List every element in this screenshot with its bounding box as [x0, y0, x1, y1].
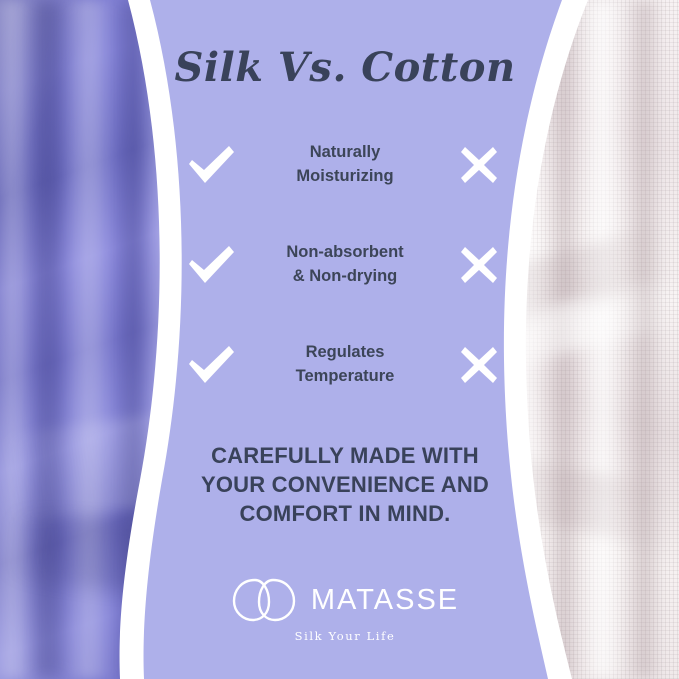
feature-line-2: Temperature: [296, 367, 395, 385]
tagline-line-3: COMFORT IN MIND.: [240, 501, 451, 526]
check-icon: [180, 343, 242, 387]
feature-text: Naturally Moisturizing: [242, 141, 448, 189]
center-panel: Silk Vs. Cotton Naturally Moisturizing: [0, 0, 679, 679]
brand-lockup: MATASSE Silk Your Life: [150, 577, 540, 643]
brand-slogan: Silk Your Life: [295, 629, 396, 643]
tagline-line-1: CAREFULLY MADE WITH: [211, 443, 479, 468]
product-infographic: Silk Vs. Cotton Naturally Moisturizing: [0, 0, 679, 679]
feature-text: Non-absorbent & Non-drying: [242, 241, 448, 289]
cross-icon-glyph: [459, 345, 499, 385]
feature-line-1: Regulates: [306, 343, 385, 361]
comparison-row: Non-absorbent & Non-drying: [180, 215, 510, 315]
tagline-line-2: YOUR CONVENIENCE AND: [201, 472, 489, 497]
feature-line-2: & Non-drying: [293, 267, 398, 285]
feature-line-1: Non-absorbent: [286, 243, 403, 261]
feature-line-2: Moisturizing: [296, 167, 393, 185]
cross-icon: [448, 345, 510, 385]
check-icon-glyph: [185, 343, 237, 387]
feature-text: Regulates Temperature: [242, 341, 448, 389]
cross-icon: [448, 145, 510, 185]
check-icon-glyph: [185, 143, 237, 187]
cross-icon: [448, 245, 510, 285]
cross-icon-glyph: [459, 145, 499, 185]
check-icon-glyph: [185, 243, 237, 287]
tagline: CAREFULLY MADE WITH YOUR CONVENIENCE AND…: [201, 441, 489, 528]
comparison-row: Regulates Temperature: [180, 315, 510, 415]
page-title: Silk Vs. Cotton: [174, 44, 515, 91]
comparison-row: Naturally Moisturizing: [180, 115, 510, 215]
check-icon: [180, 243, 242, 287]
check-icon: [180, 143, 242, 187]
brand-name: MATASSE: [311, 584, 459, 617]
two-overlapping-circles-logo-icon: [231, 577, 297, 623]
cross-icon-glyph: [459, 245, 499, 285]
feature-line-1: Naturally: [310, 143, 381, 161]
comparison-list: Naturally Moisturizing: [180, 115, 510, 415]
